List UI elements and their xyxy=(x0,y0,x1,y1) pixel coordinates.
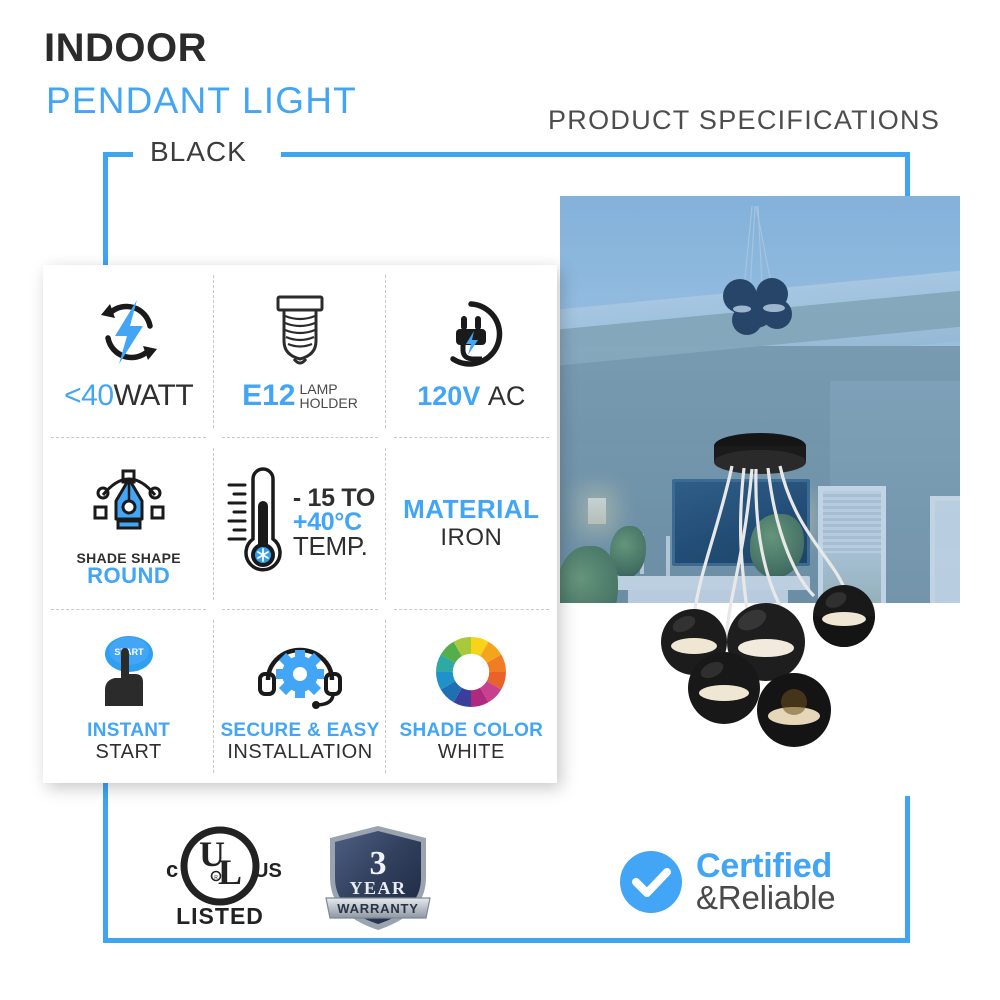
spec-label-shade-shape: SHADE SHAPE ROUND xyxy=(76,551,180,588)
spec-cell-temperature: - 15 TO +40°C TEMP. xyxy=(214,438,385,611)
warranty-banner-text: WARRANTY xyxy=(337,901,419,916)
pendant-globes xyxy=(661,585,875,747)
page-title-indoor: INDOOR xyxy=(44,28,207,68)
ul-prefix-c: c xyxy=(166,857,178,882)
certified-reliable-badge: Certified &Reliable xyxy=(620,850,835,914)
instant-start-title: INSTANT xyxy=(87,721,170,740)
wattage-unit: WATT xyxy=(114,379,194,412)
spec-cell-shade-shape: SHADE SHAPE ROUND xyxy=(43,438,214,611)
ul-registered-mark: R xyxy=(214,875,218,881)
spec-cell-voltage: 120V AC xyxy=(386,265,557,438)
wattage-value: <40 xyxy=(64,379,113,412)
power-plug-circle-icon xyxy=(436,291,506,377)
shade-color-value: WHITE xyxy=(399,742,543,762)
spec-cell-lamp-holder: E12 LAMP HOLDER xyxy=(214,265,385,438)
certified-line2: &Reliable xyxy=(696,882,835,913)
lamp-holder-type: E12 xyxy=(242,381,295,412)
warranty-shield-badge: 3 YEAR WARRANTY xyxy=(318,822,438,934)
lamp-holder-sub-line2: HOLDER xyxy=(300,396,358,411)
spec-label-shade-color: SHADE COLOR WHITE xyxy=(399,721,543,763)
material-title: MATERIAL xyxy=(403,496,539,523)
spec-label-lamp-holder: E12 LAMP HOLDER xyxy=(242,381,358,412)
check-circle-icon xyxy=(620,851,682,913)
voltage-value: 120V xyxy=(417,381,480,411)
thermometer-snowflake-icon xyxy=(225,467,287,579)
lamp-base-screw-icon xyxy=(268,289,332,375)
spec-label-installation: SECURE & EASY INSTALLATION xyxy=(220,721,379,763)
spec-label-voltage: 120V AC xyxy=(417,383,525,411)
spec-cell-material: MATERIAL IRON xyxy=(386,438,557,611)
hand-press-start-button-icon: START xyxy=(91,629,167,715)
lamp-holder-sub: LAMP HOLDER xyxy=(300,382,358,411)
material-value: IRON xyxy=(403,526,539,550)
color-variant-label: BLACK xyxy=(140,138,257,166)
ul-listed-badge: U L R c US LISTED xyxy=(150,822,290,932)
ul-listed-text: LISTED xyxy=(176,903,264,929)
ul-suffix-us: US xyxy=(254,860,282,882)
spec-cell-instant-start: START INSTANT START xyxy=(43,610,214,783)
spec-label-wattage: <40WATT xyxy=(64,381,193,412)
spec-cell-wattage: <40WATT xyxy=(43,265,214,438)
voltage-type: AC xyxy=(488,381,526,411)
warranty-years-number: 3 xyxy=(370,845,387,882)
product-specifications-title: PRODUCT SPECIFICATIONS xyxy=(548,107,940,134)
spec-label-material: MATERIAL IRON xyxy=(403,496,539,551)
spec-cell-shade-color: SHADE COLOR WHITE xyxy=(386,610,557,783)
lamp-holder-sub-line1: LAMP xyxy=(300,382,358,397)
shade-color-title: SHADE COLOR xyxy=(399,721,543,740)
spec-label-temperature: - 15 TO +40°C TEMP. xyxy=(293,487,375,559)
spec-cell-installation: SECURE & EASY INSTALLATION xyxy=(214,610,385,783)
ul-letter-l: L xyxy=(218,852,242,892)
shade-shape-value: ROUND xyxy=(76,565,180,587)
color-wheel-icon xyxy=(433,629,509,715)
certified-line1: Certified xyxy=(696,850,835,882)
svg-text:START: START xyxy=(114,647,144,657)
installation-value: INSTALLATION xyxy=(220,742,379,762)
product-cluster-pendant-image xyxy=(648,420,908,800)
product-specifications-card: <40WATT E12 LAMP HOLDER xyxy=(43,265,557,783)
pen-nib-shape-icon xyxy=(89,459,169,545)
spec-label-instant-start: INSTANT START xyxy=(87,721,170,763)
instant-start-value: START xyxy=(87,742,170,762)
certified-text: Certified &Reliable xyxy=(696,850,835,914)
installation-title: SECURE & EASY xyxy=(220,721,379,740)
headset-gear-support-icon xyxy=(254,629,346,715)
temperature-title: TEMP. xyxy=(293,534,375,559)
page-title-pendant-light: PENDANT LIGHT xyxy=(46,82,357,119)
warranty-year-label: YEAR xyxy=(349,878,406,898)
pendant-canopy-bottom xyxy=(714,450,806,474)
power-recycle-bolt-icon xyxy=(93,289,165,375)
